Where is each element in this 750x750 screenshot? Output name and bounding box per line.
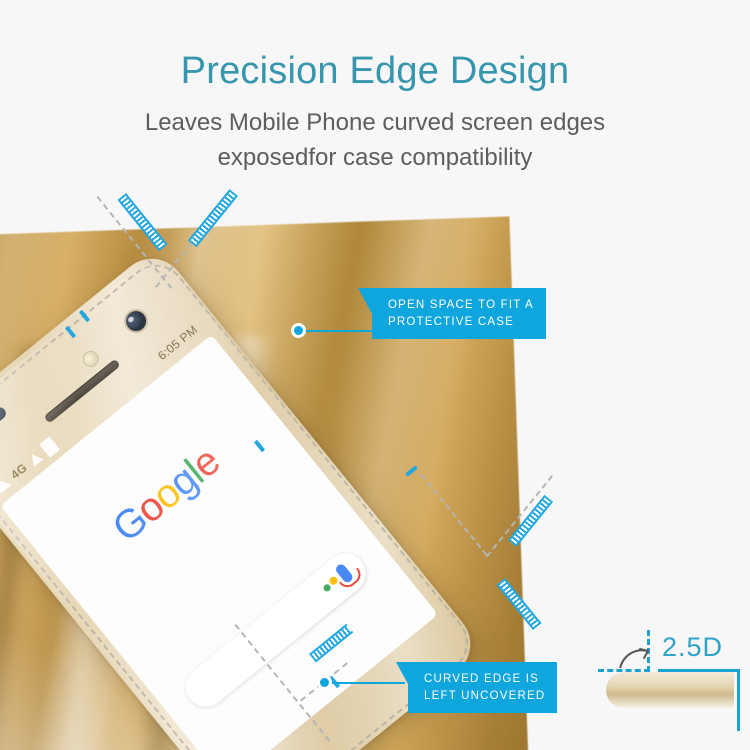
measure-line-top	[658, 669, 740, 672]
callout-anchor-dot-1	[291, 323, 306, 338]
edge-thickness-label: 2.5D	[662, 632, 723, 663]
product-marketing-image: Precision Edge Design Leaves Mobile Phon…	[0, 0, 750, 750]
callout-leader-line-2	[325, 682, 405, 684]
callout-line-2: LEFT UNCOVERED	[424, 688, 545, 705]
edge-thickness-diagram: 2.5D	[592, 614, 750, 750]
callout-line-2: PROTECTIVE CASE	[388, 314, 534, 331]
header-block: Precision Edge Design Leaves Mobile Phon…	[0, 0, 750, 175]
callout-open-space: OPEN SPACE TO FIT A PROTECTIVE CASE	[372, 288, 546, 339]
subtitle-line-1: Leaves Mobile Phone curved screen edges	[0, 106, 750, 141]
page-subtitle: Leaves Mobile Phone curved screen edges …	[0, 106, 750, 176]
glass-cross-section	[606, 672, 734, 708]
page-title: Precision Edge Design	[0, 52, 750, 92]
measure-line-right	[737, 669, 740, 731]
callout-curved-edge: CURVED EDGE IS LEFT UNCOVERED	[408, 662, 557, 713]
callout-anchor-dot-2	[317, 675, 332, 690]
callout-line-1: OPEN SPACE TO FIT A	[388, 297, 534, 314]
callout-line-1: CURVED EDGE IS	[424, 671, 545, 688]
subtitle-line-2: exposedfor case compatibility	[0, 141, 750, 176]
curved-arrow-icon	[618, 646, 652, 672]
